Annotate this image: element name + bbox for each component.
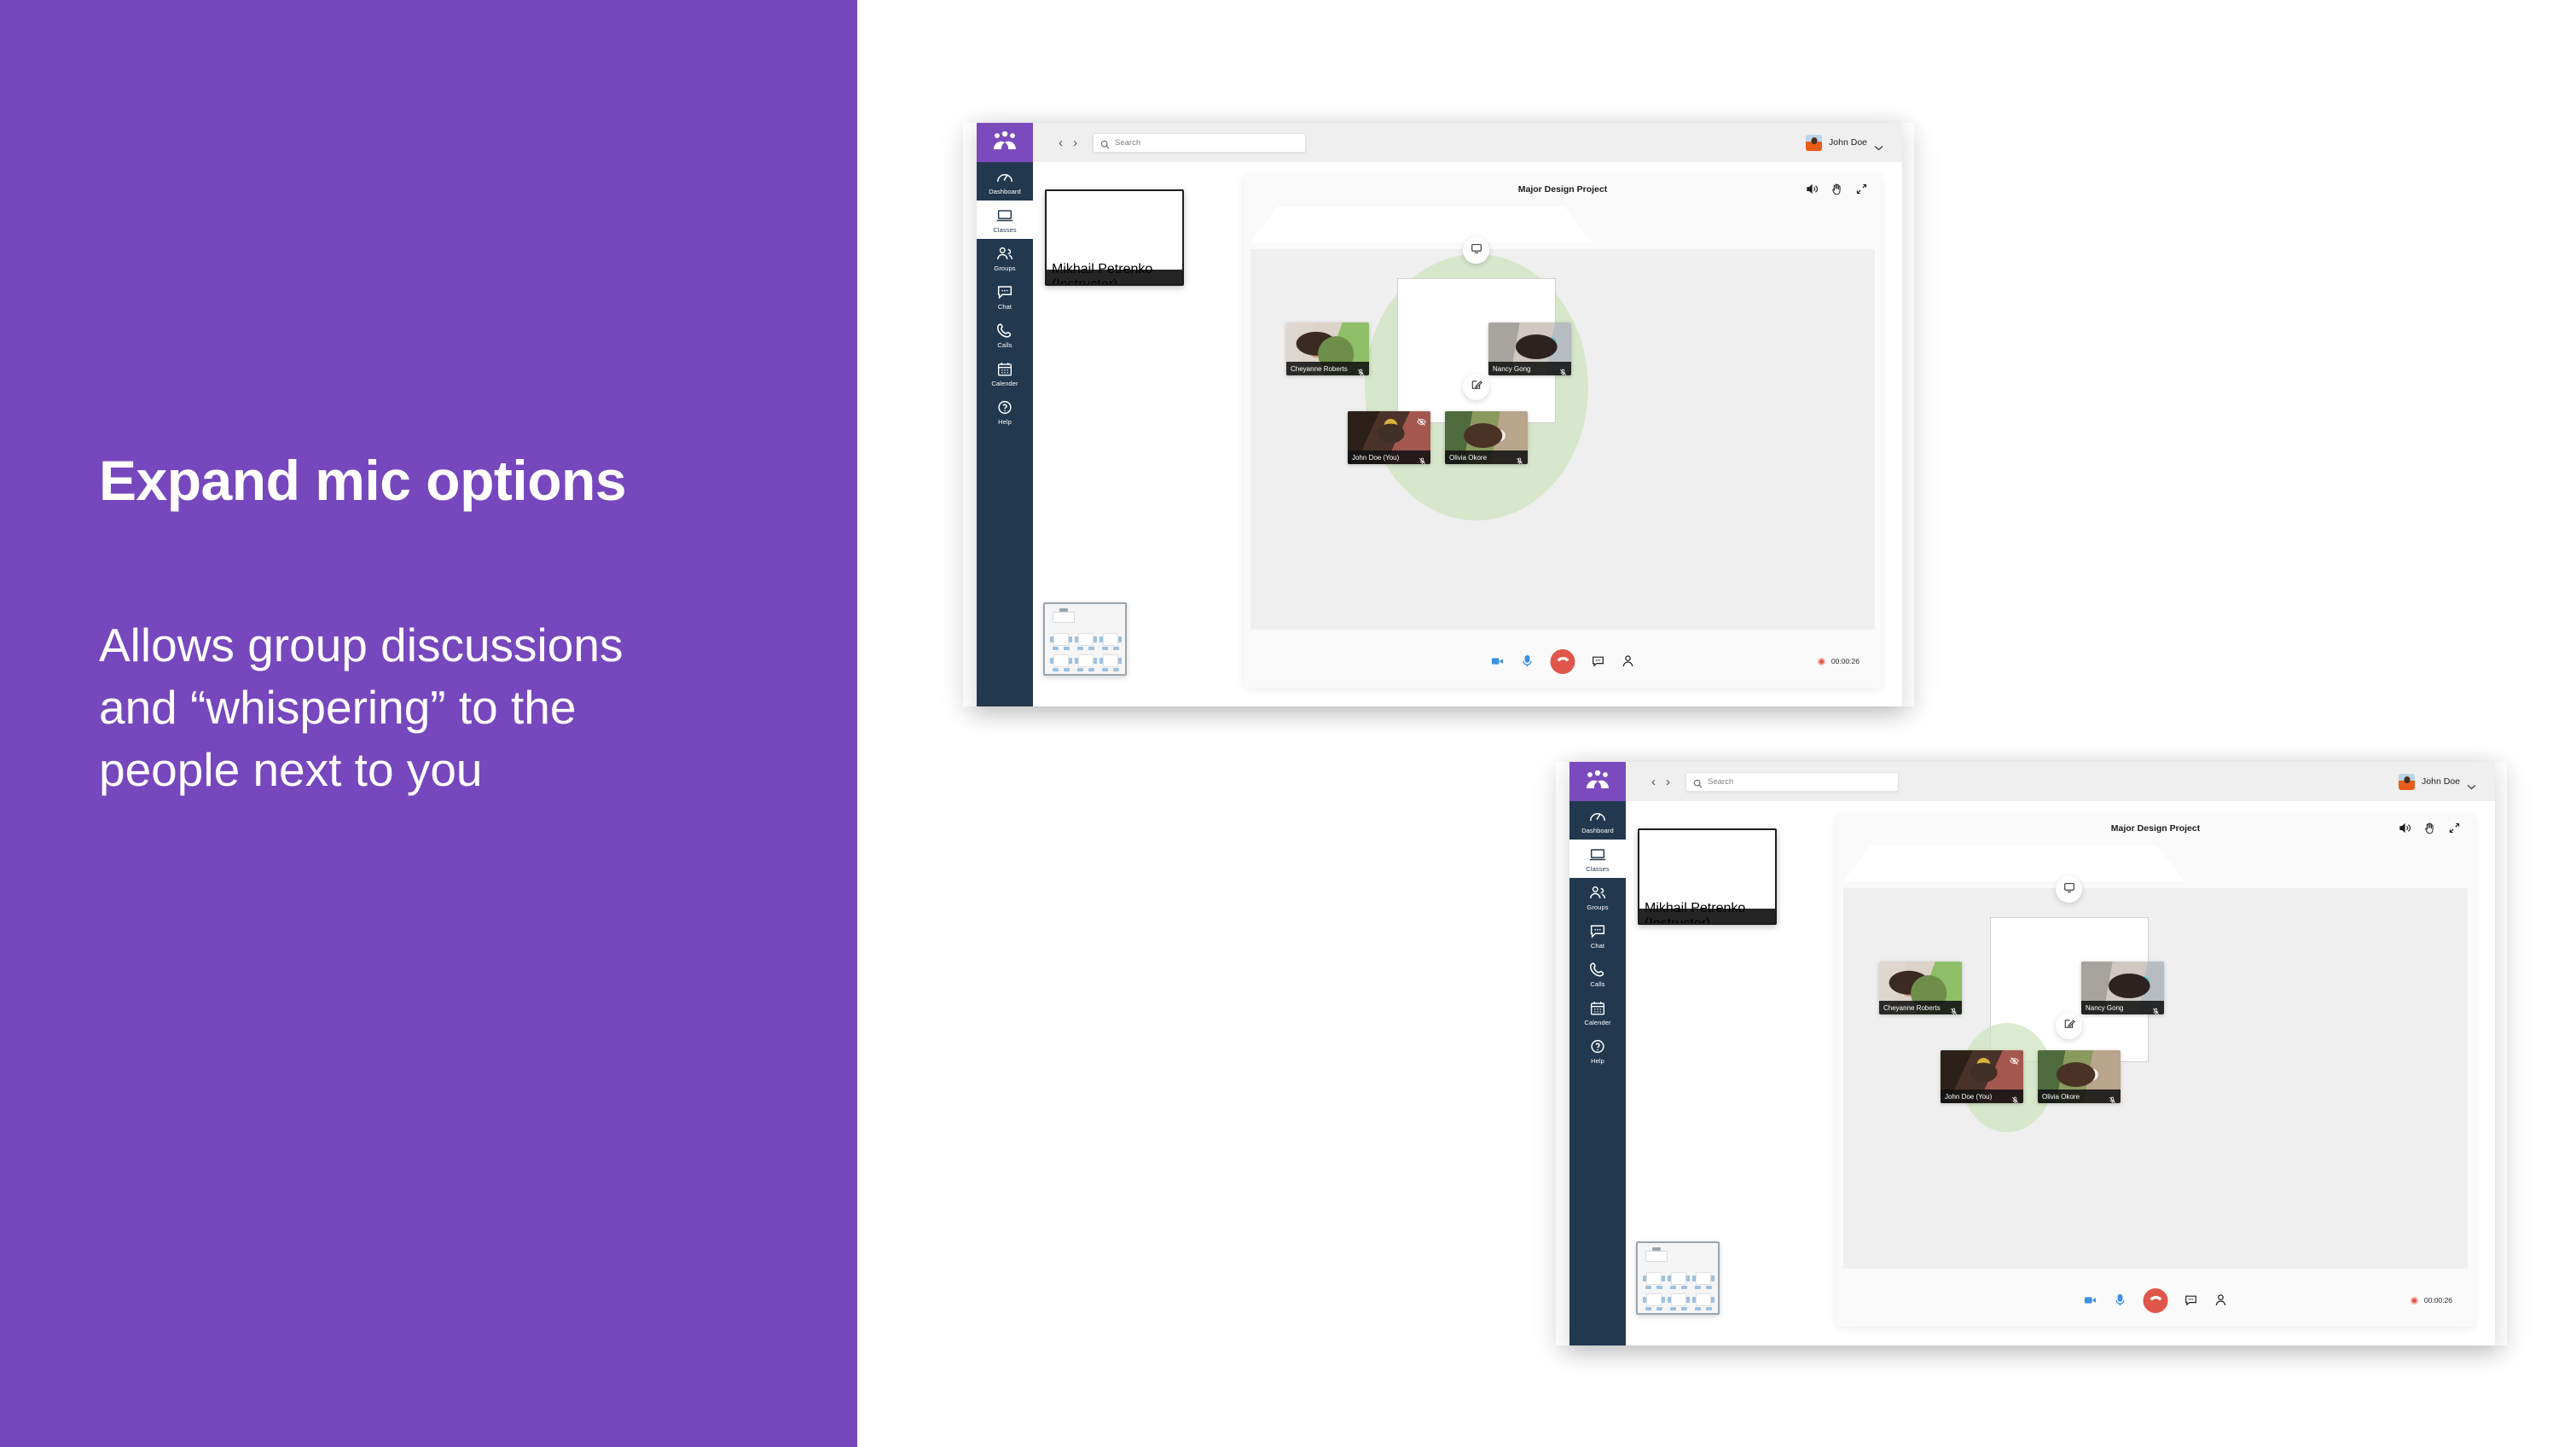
raise-hand-icon[interactable]	[1830, 183, 1843, 200]
participant-tile-john-doe[interactable]: John Doe (You)	[1348, 411, 1430, 464]
monitor-icon	[2063, 881, 2075, 898]
question-circle-icon	[978, 399, 1031, 416]
app-logo[interactable]	[977, 123, 1033, 162]
recording-indicator: 00:00:26	[2411, 1296, 2452, 1305]
sidebar-item-classes[interactable]: Classes	[1569, 840, 1626, 878]
minimap-tables	[1051, 633, 1123, 671]
minimap-teacher-desk	[1053, 612, 1075, 623]
avatar	[2399, 774, 2415, 790]
participant-name: Cheyanne Roberts	[1883, 1004, 1941, 1012]
mic-off-icon	[1950, 1004, 1958, 1012]
search-icon	[1100, 138, 1110, 148]
chevron-down-icon	[2467, 779, 2476, 785]
mic-off-icon	[2152, 1004, 2160, 1012]
sidebar-label: Help	[978, 418, 1031, 426]
minimap-table	[1644, 1293, 1664, 1310]
sidebar-label: Groups	[978, 264, 1031, 272]
people-button[interactable]	[2214, 1293, 2228, 1307]
participant-nameplate: Nancy Gong	[1488, 362, 1571, 375]
search-icon	[1693, 777, 1703, 787]
sidebar-label: Groups	[1571, 904, 1624, 911]
chevron-left-icon[interactable]: ‹	[1059, 137, 1063, 149]
participant-nameplate: John Doe (You)	[1348, 450, 1430, 464]
sidebar-1: Dashboard Classes Groups	[977, 123, 1033, 706]
phone-icon	[1571, 962, 1624, 978]
sidebar-item-groups[interactable]: Groups	[977, 239, 1033, 277]
user-name: John Doe	[1829, 137, 1867, 148]
sidebar-item-calls[interactable]: Calls	[1569, 955, 1626, 993]
minimap-table	[1668, 1272, 1689, 1289]
mic-off-icon	[2109, 1093, 2116, 1101]
instructor-tile[interactable]: Mikhail Petrenko (Instructor)	[1638, 828, 1777, 925]
participant-name: John Doe (You)	[1945, 1093, 1992, 1101]
mic-button[interactable]	[2114, 1293, 2127, 1307]
instructor-tile[interactable]: Mikhail Petrenko (Instructor)	[1045, 189, 1184, 286]
participant-nameplate: Cheyanne Roberts	[1879, 1001, 1962, 1014]
nav-arrows: ‹ ›	[1651, 776, 1670, 788]
whiteboard-surface[interactable]	[1250, 206, 1592, 242]
sidebar-2: Dashboard Classes Groups Chat	[1569, 762, 1626, 1345]
record-dot-icon	[2411, 1297, 2418, 1305]
people-icon	[1571, 885, 1624, 901]
topbar-2: ‹ › Search John Doe	[1626, 762, 2495, 801]
participant-name: Nancy Gong	[2086, 1004, 2123, 1012]
participant-tile-cheyanne[interactable]: Cheyanne Roberts	[1286, 323, 1369, 375]
minimap-table	[1076, 633, 1096, 650]
hangup-button[interactable]	[1551, 649, 1575, 674]
pencil-edit-icon	[2063, 1018, 2075, 1034]
camera-button[interactable]	[2084, 1293, 2097, 1307]
recording-elapsed: 00:00:26	[2424, 1296, 2452, 1305]
question-circle-icon	[1571, 1038, 1624, 1055]
meeting-actions	[1806, 183, 1868, 200]
call-controls-2: 00:00:26	[1836, 1274, 2474, 1327]
meeting-title: Major Design Project	[1836, 823, 2474, 834]
topbar-1: ‹ › Search John Doe	[1033, 123, 1902, 162]
minimap-teacher-desk	[1645, 1251, 1668, 1262]
participant-nameplate: Olivia Okore	[2038, 1090, 2121, 1103]
participant-tile-olivia[interactable]: Olivia Okore	[1445, 411, 1528, 464]
search-placeholder: Search	[1115, 138, 1140, 148]
call-controls-1: 00:00:26	[1244, 635, 1882, 688]
people-icon	[978, 246, 1031, 262]
sidebar-label: Classes	[1571, 865, 1624, 873]
speaker-volume-icon[interactable]	[2399, 822, 2411, 839]
sidebar-item-help[interactable]: Help	[1569, 1031, 1626, 1070]
sidebar-label: Classes	[978, 226, 1031, 234]
sidebar-label: Dashboard	[978, 188, 1031, 195]
recording-indicator: 00:00:26	[1818, 657, 1859, 665]
participant-name: Nancy Gong	[1493, 365, 1530, 373]
screen-share-button[interactable]	[2056, 876, 2082, 903]
sidebar-label: Chat	[1571, 942, 1624, 950]
phone-hangup-icon	[1556, 653, 1569, 671]
user-menu[interactable]: John Doe	[2399, 774, 2476, 790]
whiteboard-edit-button[interactable]	[1463, 374, 1489, 400]
slide-canvas: Expand mic options Allows group discussi…	[0, 0, 2576, 1447]
hangup-button[interactable]	[2144, 1288, 2168, 1313]
mic-off-icon	[1516, 454, 1523, 462]
minimap-table	[1693, 1272, 1714, 1289]
participant-name: John Doe (You)	[1352, 454, 1399, 462]
participant-name: Olivia Okore	[1449, 454, 1487, 462]
sidebar-item-calls[interactable]: Calls	[977, 316, 1033, 354]
recording-elapsed: 00:00:26	[1831, 657, 1859, 665]
sidebar-label: Calender	[1571, 1019, 1624, 1026]
slide-text-panel: Expand mic options Allows group discussi…	[0, 0, 857, 1447]
pencil-edit-icon	[1471, 379, 1482, 395]
meeting-panel-2: Major Design Project	[1836, 813, 2474, 1327]
gauge-icon	[978, 169, 1031, 185]
sidebar-item-chat[interactable]: Chat	[1569, 916, 1626, 955]
sidebar-item-chat[interactable]: Chat	[977, 277, 1033, 316]
nav-arrows: ‹ ›	[1059, 137, 1077, 149]
search-input[interactable]: Search	[1093, 133, 1306, 153]
sidebar-label: Calls	[1571, 980, 1624, 988]
record-dot-icon	[1818, 658, 1825, 665]
sidebar-label: Calender	[978, 380, 1031, 387]
gauge-icon	[1571, 808, 1624, 824]
search-input[interactable]: Search	[1685, 772, 1899, 792]
instructor-name: Mikhail Petrenko (Instructor)	[1052, 262, 1177, 287]
chat-bubble-icon	[978, 284, 1031, 300]
participant-nameplate: Nancy Gong	[2081, 1001, 2164, 1014]
people-button[interactable]	[1622, 654, 1635, 668]
minimap-table	[1051, 633, 1071, 650]
sidebar-item-dashboard[interactable]: Dashboard	[1569, 801, 1626, 840]
app-logo[interactable]	[1569, 762, 1626, 801]
user-menu[interactable]: John Doe	[1806, 135, 1883, 151]
participant-nameplate: John Doe (You)	[1941, 1090, 2023, 1103]
participant-nameplate: Cheyanne Roberts	[1286, 362, 1369, 375]
minimap-table	[1100, 633, 1121, 650]
minimap-tables	[1644, 1272, 1716, 1310]
instructor-nameplate: Mikhail Petrenko (Instructor)	[1639, 909, 1775, 923]
sidebar-item-help[interactable]: Help	[977, 392, 1033, 431]
sidebar-item-classes[interactable]: Classes	[977, 200, 1033, 239]
sidebar-label: Dashboard	[1571, 827, 1624, 834]
chevron-down-icon	[1874, 140, 1883, 146]
avatar	[1806, 135, 1822, 151]
eye-off-icon[interactable]	[2010, 1055, 2019, 1064]
fullscreen-expand-icon[interactable]	[2448, 822, 2461, 839]
group-people-logo-icon	[992, 131, 1018, 154]
fullscreen-expand-icon[interactable]	[1855, 183, 1868, 200]
mic-button[interactable]	[1521, 654, 1535, 668]
calendar-icon	[978, 361, 1031, 377]
whiteboard-edit-button[interactable]	[2056, 1013, 2082, 1039]
minimap-table	[1693, 1293, 1714, 1310]
classroom-icon	[978, 207, 1031, 224]
chevron-right-icon[interactable]: ›	[1073, 137, 1077, 149]
participant-nameplate: Olivia Okore	[1445, 450, 1528, 464]
mic-off-icon	[1419, 454, 1426, 462]
monitor-icon	[1471, 242, 1482, 259]
mic-off-icon	[2011, 1093, 2019, 1101]
classroom-layout-minimap[interactable]	[1636, 1241, 1720, 1315]
sidebar-label: Calls	[978, 341, 1031, 349]
phone-icon	[978, 323, 1031, 339]
participant-tile-cheyanne[interactable]: Cheyanne Roberts	[1879, 962, 1962, 1014]
chevron-right-icon[interactable]: ›	[1666, 776, 1670, 788]
app-window-2: Dashboard Classes Groups Chat	[1569, 762, 2495, 1345]
participant-tile-john-doe[interactable]: John Doe (You)	[1941, 1050, 2023, 1103]
raise-hand-icon[interactable]	[2423, 822, 2436, 839]
minimap-table	[1100, 654, 1121, 671]
mic-off-icon	[1559, 365, 1567, 373]
classroom-stage: Cheyanne Roberts Nancy Gong	[1843, 888, 2468, 1269]
chat-bubble-icon	[1571, 923, 1624, 939]
participant-name: Olivia Okore	[2042, 1093, 2080, 1101]
speaker-volume-icon[interactable]	[1806, 183, 1819, 200]
whiteboard-surface[interactable]	[1843, 846, 2184, 881]
mic-off-icon	[1357, 365, 1365, 373]
sidebar-label: Chat	[978, 303, 1031, 311]
meeting-title: Major Design Project	[1244, 184, 1882, 195]
screen-share-button[interactable]	[1463, 237, 1489, 264]
chat-button[interactable]	[2184, 1293, 2198, 1307]
participant-name: Cheyanne Roberts	[1291, 365, 1348, 373]
classroom-icon	[1571, 846, 1624, 863]
app-window-1: Dashboard Classes Groups	[977, 123, 1902, 706]
slide-title: Expand mic options	[99, 452, 781, 508]
camera-button[interactable]	[1491, 654, 1505, 668]
classroom-layout-minimap[interactable]	[1043, 602, 1127, 676]
minimap-table	[1668, 1293, 1689, 1310]
chat-button[interactable]	[1592, 654, 1605, 668]
sidebar-item-calendar[interactable]: Calender	[1569, 993, 1626, 1031]
minimap-table	[1051, 654, 1071, 671]
classroom-stage: Cheyanne Roberts Nancy Gong	[1250, 249, 1875, 630]
instructor-name: Mikhail Petrenko (Instructor)	[1645, 901, 1770, 926]
sidebar-item-groups[interactable]: Groups	[1569, 878, 1626, 916]
participant-tile-nancy[interactable]: Nancy Gong	[1488, 323, 1571, 375]
minimap-table	[1076, 654, 1096, 671]
eye-off-icon[interactable]	[1417, 416, 1426, 425]
chevron-left-icon[interactable]: ‹	[1651, 776, 1656, 788]
minimap-table	[1644, 1272, 1664, 1289]
participant-tile-olivia[interactable]: Olivia Okore	[2038, 1050, 2121, 1103]
group-people-logo-icon	[1585, 770, 1610, 793]
sidebar-label: Help	[1571, 1057, 1624, 1065]
slide-body-text: Allows group discussions and “whispering…	[99, 614, 679, 801]
phone-hangup-icon	[2149, 1292, 2162, 1310]
meeting-panel-1: Major Design Project	[1244, 174, 1882, 688]
calendar-icon	[1571, 1000, 1624, 1016]
sidebar-item-dashboard[interactable]: Dashboard	[977, 162, 1033, 200]
instructor-nameplate: Mikhail Petrenko (Instructor)	[1047, 270, 1182, 284]
user-name: John Doe	[2422, 776, 2460, 787]
participant-tile-nancy[interactable]: Nancy Gong	[2081, 962, 2164, 1014]
sidebar-item-calendar[interactable]: Calender	[977, 354, 1033, 392]
meeting-actions	[2399, 822, 2461, 839]
search-placeholder: Search	[1708, 777, 1733, 787]
